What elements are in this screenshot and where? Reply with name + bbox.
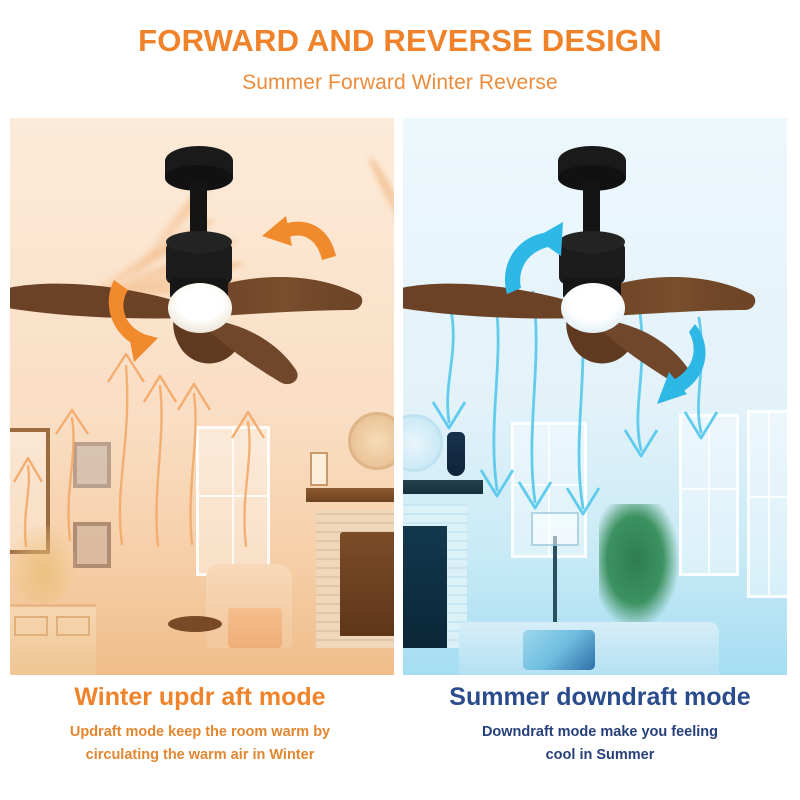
scene-summer: [403, 118, 787, 675]
captions: Winter updr aft mode Updraft mode keep t…: [0, 683, 800, 800]
caption-winter: Winter updr aft mode Updraft mode keep t…: [4, 683, 396, 768]
header: FORWARD AND REVERSE DESIGN Summer Forwar…: [0, 0, 800, 95]
caption-summer-title: Summer downdraft mode: [404, 683, 796, 712]
caption-summer-description: Downdraft mode make you feeling cool in …: [404, 721, 796, 768]
caption-summer-desc-line2: cool in Summer: [404, 744, 796, 767]
ceiling-fan-winter: [10, 118, 394, 675]
panel-summer-downdraft: [403, 118, 787, 675]
caption-winter-description: Updraft mode keep the room warm by circu…: [4, 721, 396, 768]
page-subtitle: Summer Forward Winter Reverse: [0, 71, 800, 95]
caption-summer-desc-line1: Downdraft mode make you feeling: [404, 721, 796, 744]
infographic-page: FORWARD AND REVERSE DESIGN Summer Forwar…: [0, 0, 800, 800]
rotation-arrow-left: [505, 222, 563, 294]
comparison-panels: [10, 118, 792, 675]
scene-winter: [10, 118, 394, 675]
caption-winter-desc-line1: Updraft mode keep the room warm by: [4, 721, 396, 744]
caption-summer: Summer downdraft mode Downdraft mode mak…: [404, 683, 796, 768]
panel-winter-updraft: [10, 118, 394, 675]
caption-winter-title: Winter updr aft mode: [4, 683, 396, 712]
caption-winter-desc-line2: circulating the warm air in Winter: [4, 744, 396, 767]
ceiling-fan-summer: [403, 118, 787, 675]
page-title: FORWARD AND REVERSE DESIGN: [0, 24, 800, 58]
rotation-arrow-right: [262, 216, 336, 260]
